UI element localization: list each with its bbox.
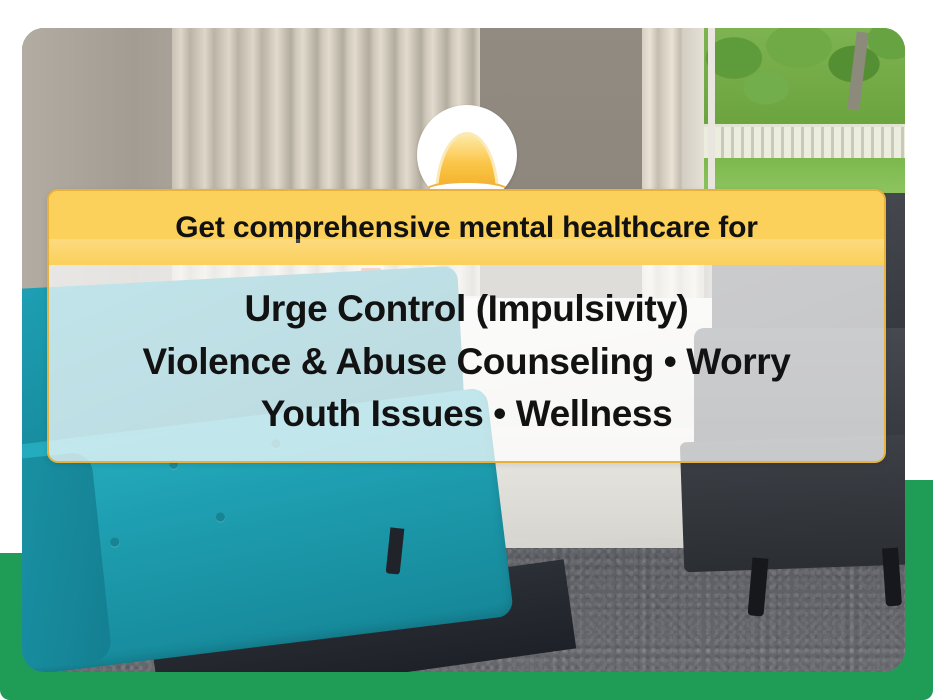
banner-canvas: Get comprehensive mental healthcare for …	[0, 0, 933, 700]
service-line: Youth Issues • Wellness	[261, 390, 673, 439]
service-line: Violence & Abuse Counseling • Worry	[143, 338, 791, 387]
message-card: Get comprehensive mental healthcare for …	[47, 189, 886, 463]
sofa-tuft	[110, 537, 120, 547]
card-header-banner: Get comprehensive mental healthcare for	[49, 191, 884, 265]
picket-fence	[704, 124, 905, 160]
headline-text: Get comprehensive mental healthcare for	[175, 213, 757, 243]
services-list: Urge Control (Impulsivity) Violence & Ab…	[49, 265, 884, 463]
sofa-tuft	[215, 512, 225, 522]
service-line: Urge Control (Impulsivity)	[245, 285, 689, 334]
window-post	[708, 28, 715, 204]
trees	[704, 28, 905, 128]
